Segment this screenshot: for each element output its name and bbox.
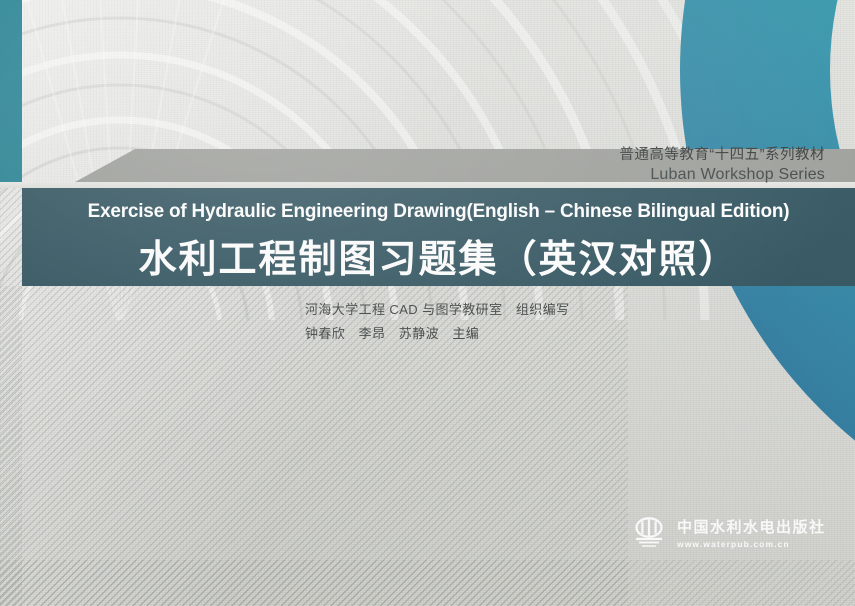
credits-block: 河海大学工程 CAD 与图学教研室 组织编写 钟春欣 李昂 苏静波 主编 <box>305 298 569 346</box>
publisher-name: 中国水利水电出版社 <box>677 516 826 537</box>
hatch-texture-bottom <box>0 560 855 606</box>
title-english: Exercise of Hydraulic Engineering Drawin… <box>34 200 842 223</box>
series-label-block: 普通高等教育“十四五”系列教材 Luban Workshop Series <box>619 146 825 185</box>
left-accent-strip <box>0 0 22 182</box>
series-label-chinese: 普通高等教育“十四五”系列教材 <box>619 146 825 164</box>
credit-line-editors: 钟春欣 李昂 苏静波 主编 <box>305 322 569 346</box>
title-band: Exercise of Hydraulic Engineering Drawin… <box>22 188 855 286</box>
waterpub-emblem-icon <box>630 513 668 551</box>
publisher-url: www.waterpub.com.cn <box>677 539 826 549</box>
title-chinese: 水利工程制图习题集（英汉对照） <box>22 228 855 283</box>
publisher-block: 中国水利水电出版社 www.waterpub.com.cn <box>630 513 826 551</box>
book-cover: 普通高等教育“十四五”系列教材 Luban Workshop Series Ex… <box>0 0 855 606</box>
hatch-texture-left <box>0 182 22 606</box>
publisher-text: 中国水利水电出版社 www.waterpub.com.cn <box>677 516 826 549</box>
series-label-english: Luban Workshop Series <box>619 165 825 185</box>
credit-line-organization: 河海大学工程 CAD 与图学教研室 组织编写 <box>305 298 569 322</box>
